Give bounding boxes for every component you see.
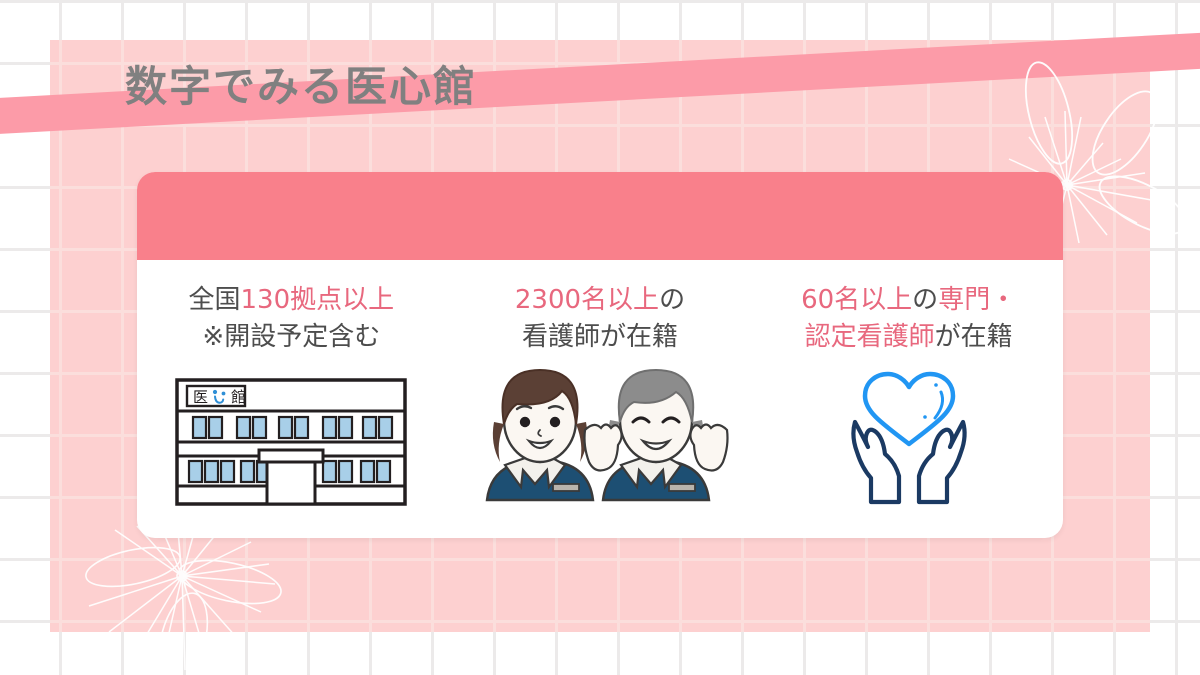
stat-facilities-art: 医 館	[175, 370, 407, 506]
nurse-female-icon	[487, 370, 593, 500]
stat-certified-l1-s2: 専門・	[938, 285, 1016, 315]
stat-certified-nurses: 60名以上の専門・ 認定看護師が在籍	[759, 282, 1059, 506]
stat-certified-l1-s0: 60名以上	[801, 285, 912, 315]
stat-facilities-l2-s0: ※開設予定含む	[202, 322, 380, 352]
stat-nurses: 2300名以上の 看護師が在籍	[450, 282, 750, 506]
page-title: 数字でみる医心館	[125, 64, 477, 110]
building-sign-right: 館	[231, 388, 246, 406]
hands-shape	[853, 422, 964, 502]
stat-facilities-l1-s1: 130拠点以上	[241, 285, 395, 315]
building-windows-upper	[193, 417, 392, 438]
stats-row: 全国130拠点以上 ※開設予定含む 医 館	[137, 260, 1063, 538]
stat-facilities-text: 全国130拠点以上 ※開設予定含む	[189, 282, 395, 356]
stat-nurses-text: 2300名以上の 看護師が在籍	[515, 282, 685, 356]
stat-certified-line2: 認定看護師が在籍	[801, 319, 1016, 356]
stat-facilities-line2: ※開設予定含む	[189, 319, 395, 356]
stat-facilities: 全国130拠点以上 ※開設予定含む 医 館	[141, 282, 441, 506]
stat-nurses-l1-s1: の	[659, 285, 685, 315]
card-header-band	[137, 172, 1063, 260]
stat-facilities-line1: 全国130拠点以上	[189, 282, 395, 319]
stat-nurses-l2-s0: 看護師が在籍	[522, 322, 678, 352]
heart-in-hands-icon	[843, 370, 975, 506]
hospital-building-icon: 医 館	[175, 378, 407, 506]
stat-certified-line1: 60名以上の専門・	[801, 282, 1016, 319]
stats-card: 全国130拠点以上 ※開設予定含む 医 館	[137, 172, 1063, 538]
stat-certified-l1-s1: の	[912, 285, 938, 315]
stat-certified-text: 60名以上の専門・ 認定看護師が在籍	[801, 282, 1016, 356]
two-nurses-icon	[469, 368, 731, 506]
stat-facilities-l1-s0: 全国	[189, 285, 241, 315]
stat-nurses-line2: 看護師が在籍	[515, 319, 685, 356]
stat-nurses-line1: 2300名以上の	[515, 282, 685, 319]
stat-certified-art	[843, 370, 975, 506]
nurse-male-icon	[584, 370, 727, 500]
stat-nurses-l1-s0: 2300名以上	[515, 285, 659, 315]
stat-certified-l2-s1: が在籍	[935, 322, 1013, 352]
stat-certified-l2-s0: 認定看護師	[805, 322, 935, 352]
building-sign-left: 医	[193, 388, 208, 406]
stat-nurses-art	[469, 370, 731, 506]
slide-canvas: 数字でみる医心館 全国130拠点以上 ※開設予定含む	[0, 0, 1200, 675]
